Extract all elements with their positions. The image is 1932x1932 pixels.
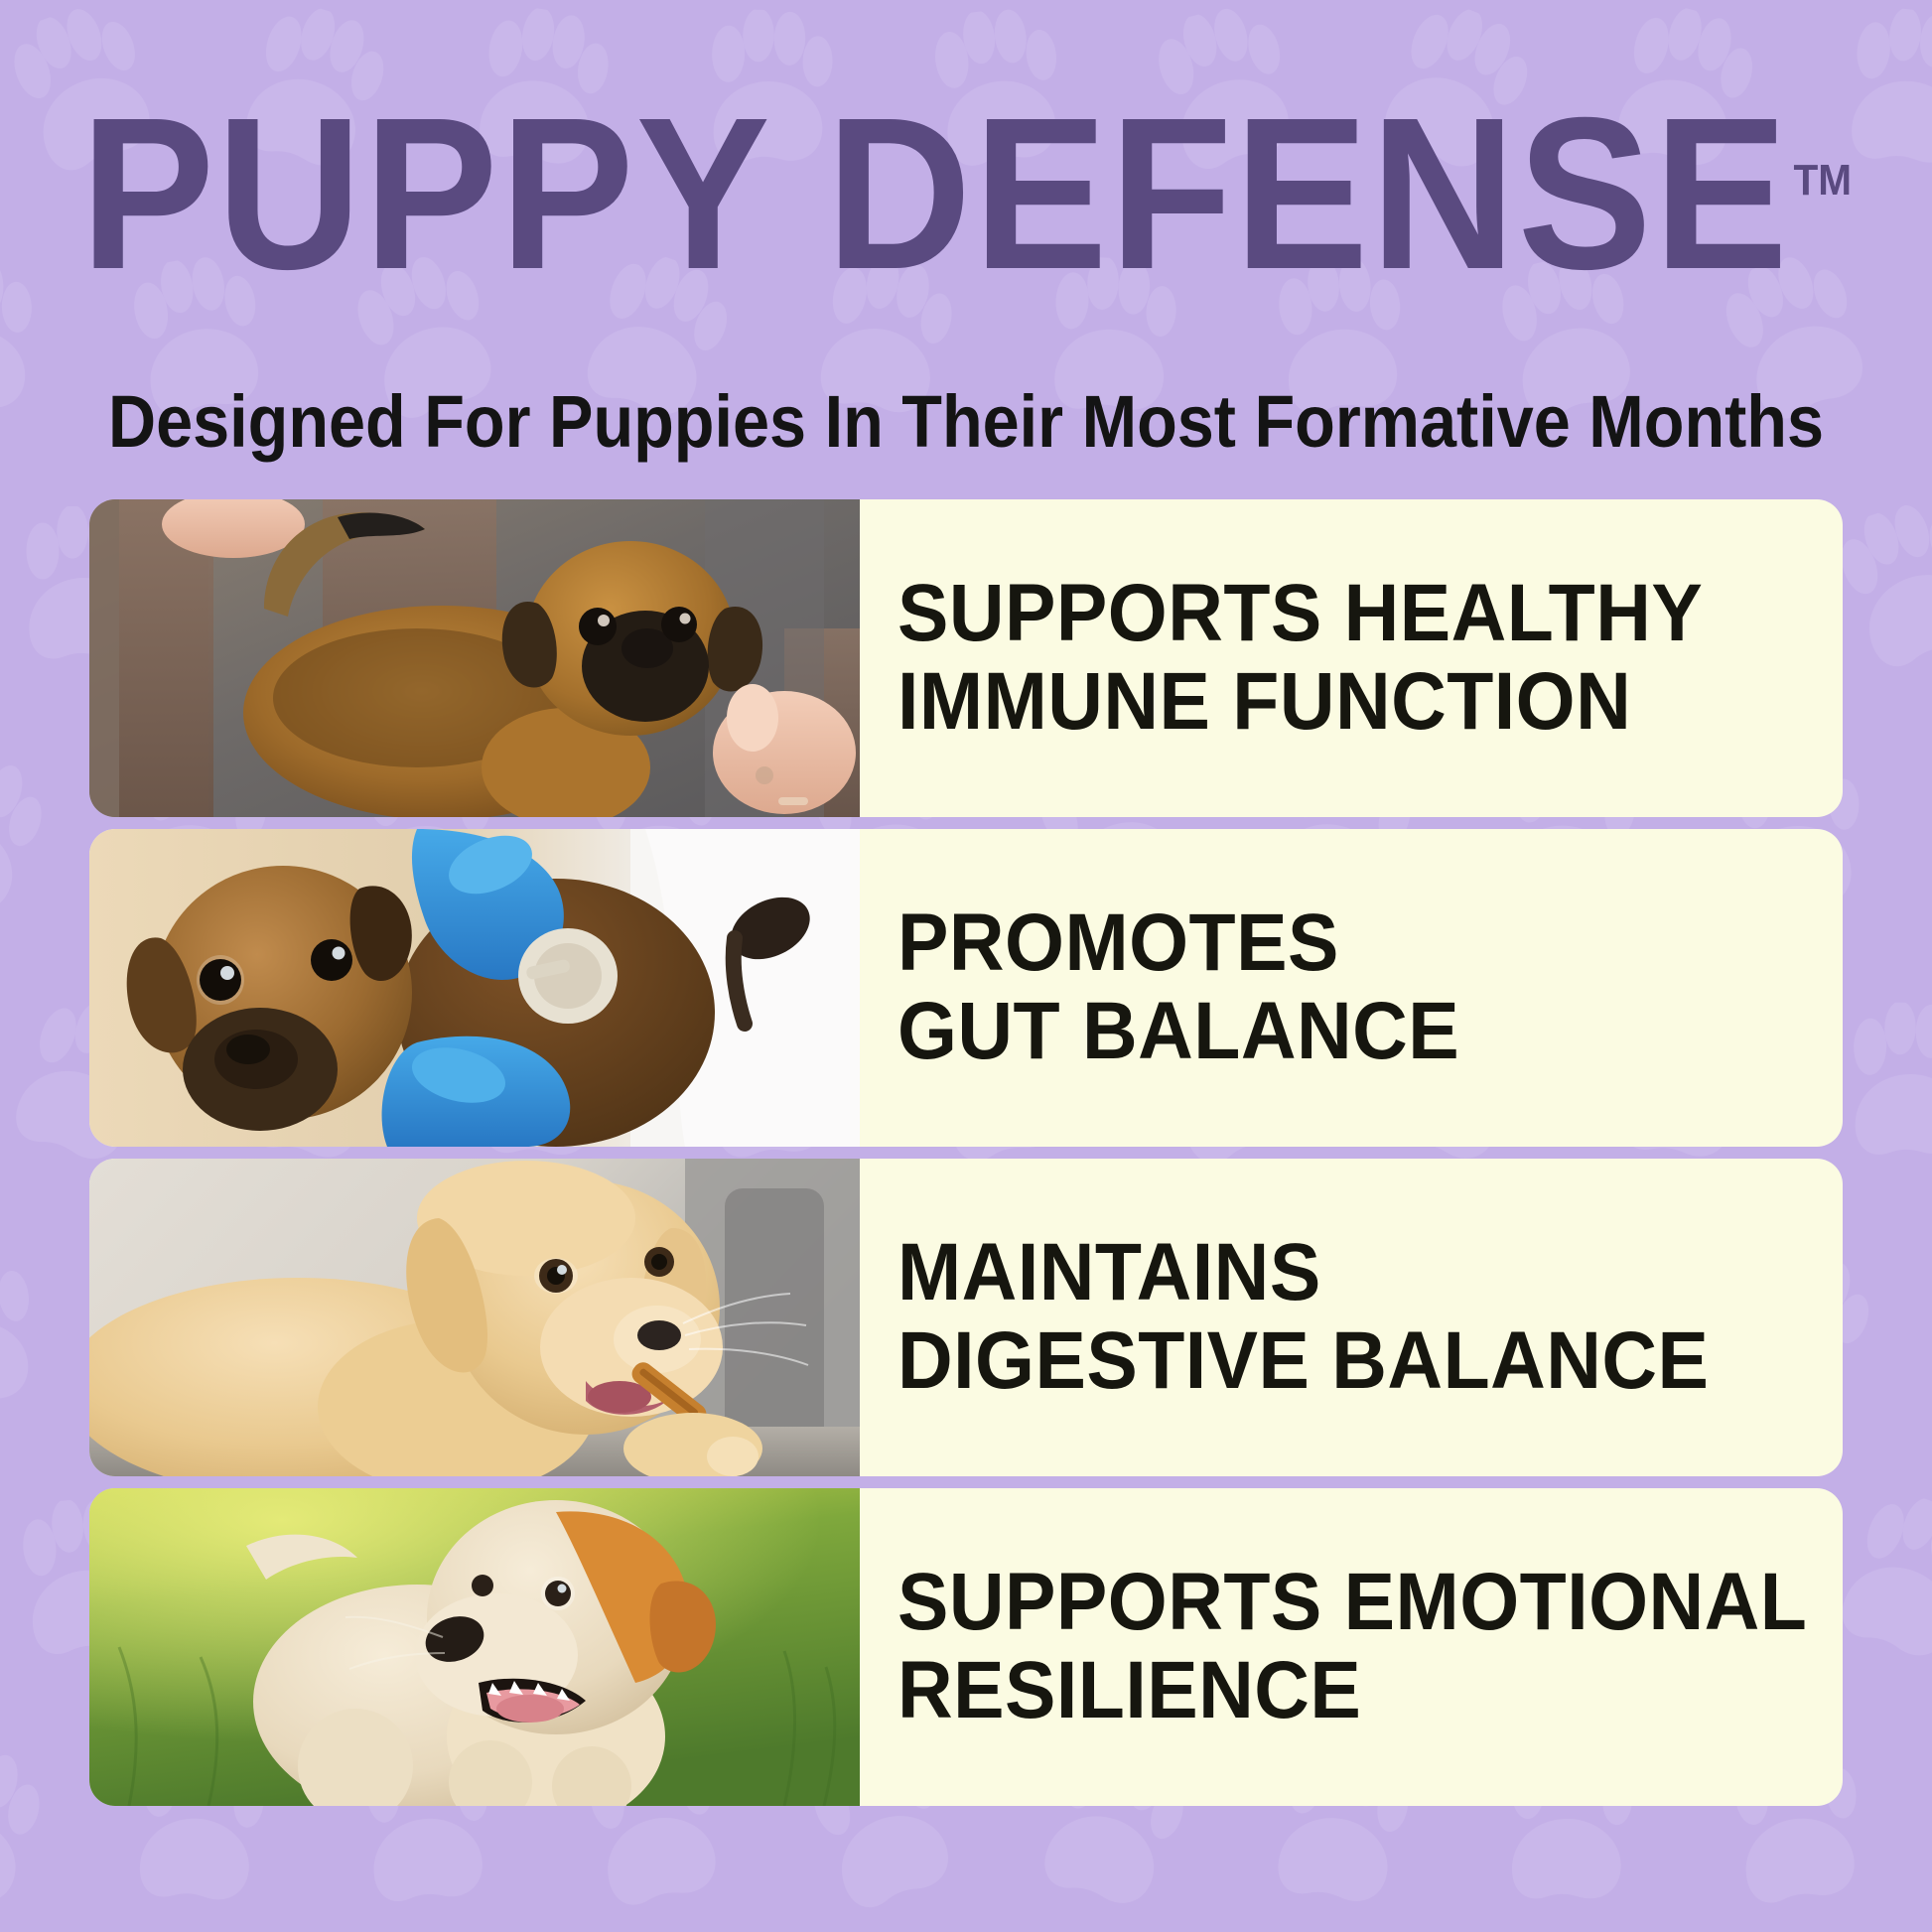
feature-photo-puppy-held (89, 499, 860, 817)
feature-card: PROMOTES GUT BALANCE (89, 829, 1843, 1147)
feature-card: MAINTAINS DIGESTIVE BALANCE (89, 1159, 1843, 1476)
page-title: PUPPY DEFENSETM (68, 95, 1864, 295)
feature-photo-vet-exam (89, 829, 860, 1147)
feature-text: PROMOTES GUT BALANCE (860, 829, 1843, 1147)
paw-print-icon (1836, 1002, 1932, 1169)
feature-text: MAINTAINS DIGESTIVE BALANCE (860, 1159, 1843, 1476)
feature-line-2: IMMUNE FUNCTION (897, 658, 1760, 747)
brand-name: PUPPY DEFENSE (80, 73, 1790, 315)
paw-print-icon (0, 1732, 62, 1926)
paw-print-icon (0, 736, 67, 937)
feature-card: SUPPORTS HEALTHY IMMUNE FUNCTION (89, 499, 1843, 817)
paw-print-icon (0, 1242, 54, 1423)
feature-line-2: GUT BALANCE (897, 988, 1760, 1076)
infographic-root: PUPPY DEFENSETM Designed For Puppies In … (0, 0, 1932, 1932)
feature-line-1: PROMOTES (897, 899, 1760, 988)
feature-line-2: RESILIENCE (897, 1647, 1807, 1735)
header: PUPPY DEFENSETM Designed For Puppies In … (0, 0, 1932, 496)
trademark-symbol: TM (1793, 157, 1852, 205)
feature-photo-puppy-barking (89, 1488, 860, 1806)
feature-line-2: DIGESTIVE BALANCE (897, 1317, 1760, 1406)
feature-photo-puppy-chewing (89, 1159, 860, 1476)
feature-card: SUPPORTS EMOTIONAL RESILIENCE (89, 1488, 1843, 1806)
feature-text: SUPPORTS HEALTHY IMMUNE FUNCTION (860, 499, 1843, 817)
feature-line-1: MAINTAINS (897, 1229, 1760, 1317)
feature-line-1: SUPPORTS EMOTIONAL (897, 1559, 1807, 1647)
feature-line-1: SUPPORTS HEALTHY (897, 570, 1760, 658)
page-subtitle: Designed For Puppies In Their Most Forma… (96, 385, 1835, 459)
feature-card-list: SUPPORTS HEALTHY IMMUNE FUNCTION (89, 499, 1843, 1818)
feature-text: SUPPORTS EMOTIONAL RESILIENCE (860, 1488, 1843, 1806)
